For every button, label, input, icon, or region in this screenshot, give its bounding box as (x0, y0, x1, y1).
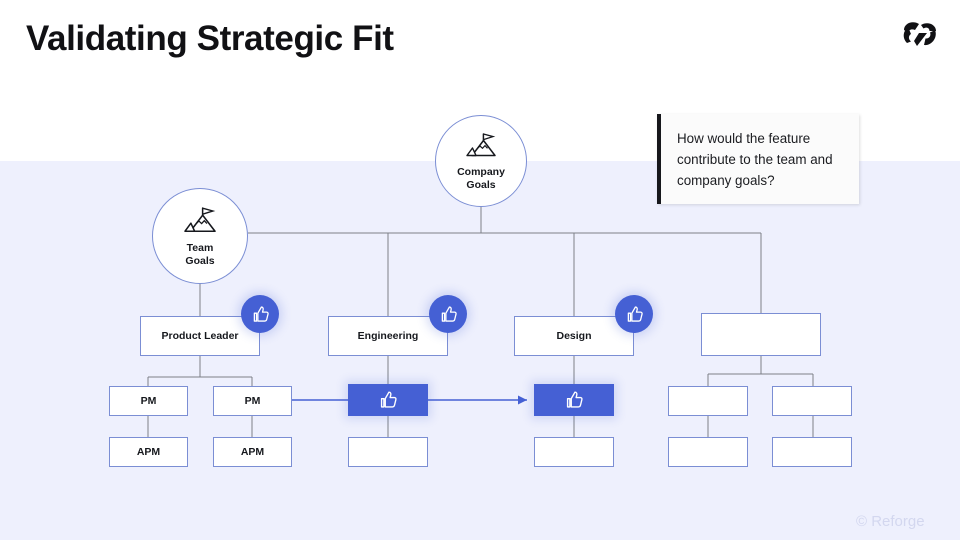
badge-thumbs-up-design[interactable] (615, 295, 653, 333)
org-box-apm-2[interactable]: APM (213, 437, 292, 467)
org-box-label: PM (245, 395, 261, 408)
thumbs-up-icon (438, 304, 459, 325)
thumbs-up-icon (377, 389, 399, 411)
org-box-pm-1[interactable]: PM (109, 386, 188, 416)
org-box-r-sub-2[interactable] (772, 437, 852, 467)
org-box-label: Engineering (358, 330, 419, 343)
footer-copyright: © Reforge (856, 513, 925, 530)
mountain-flag-icon (178, 205, 222, 240)
thumbs-up-icon (563, 389, 585, 411)
org-box-pm-2[interactable]: PM (213, 386, 292, 416)
org-box-eng-sub[interactable] (348, 437, 428, 467)
goal-label-line2: Goals (466, 179, 495, 192)
org-box-label: APM (241, 446, 264, 459)
goal-node-team[interactable]: Team Goals (152, 188, 248, 284)
badge-thumbs-up-product-leader[interactable] (241, 295, 279, 333)
org-box-unlabeled-dept[interactable] (701, 313, 821, 356)
org-box-r-2[interactable] (772, 386, 852, 416)
org-box-design-ic[interactable] (534, 384, 614, 416)
org-box-eng-ic[interactable] (348, 384, 428, 416)
callout-question-box: How would the feature contribute to the … (657, 114, 859, 204)
org-box-label: APM (137, 446, 160, 459)
slide-canvas: Validating Strategic Fit (0, 0, 960, 540)
org-box-r-sub-1[interactable] (668, 437, 748, 467)
callout-text: How would the feature contribute to the … (677, 128, 845, 191)
org-box-label: Design (556, 330, 591, 343)
thumbs-up-icon (250, 304, 271, 325)
goal-label-line1: Company (457, 166, 505, 179)
goal-label-line2: Goals (185, 255, 214, 268)
org-box-apm-1[interactable]: APM (109, 437, 188, 467)
badge-thumbs-up-engineering[interactable] (429, 295, 467, 333)
org-box-label: PM (141, 395, 157, 408)
org-box-r-1[interactable] (668, 386, 748, 416)
mountain-flag-icon (461, 131, 501, 164)
org-box-label: Product Leader (161, 330, 238, 343)
goal-label-line1: Team (187, 242, 214, 255)
goal-node-company[interactable]: Company Goals (435, 115, 527, 207)
thumbs-up-icon (624, 304, 645, 325)
org-box-design-sub[interactable] (534, 437, 614, 467)
